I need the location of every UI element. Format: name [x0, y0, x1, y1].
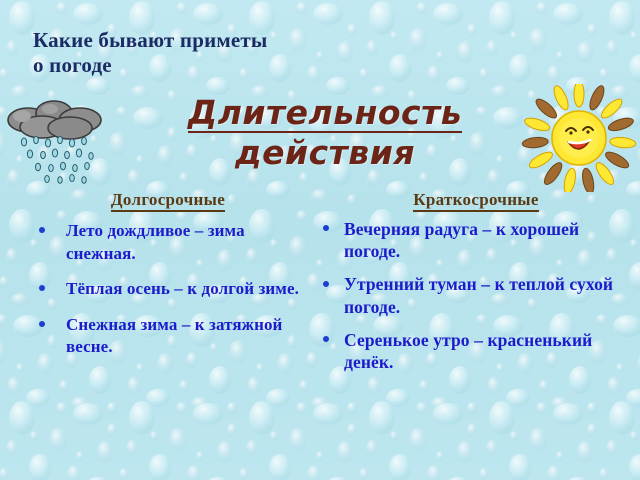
column-heading-long-term: Долгосрочные — [18, 190, 318, 212]
list-item-text: Лето дождливое – зима снежная. — [66, 220, 318, 265]
rain-cloud-icon — [2, 96, 110, 192]
list-item-text: Серенькое утро – красненький денёк. — [344, 329, 636, 373]
bullet-dot-icon — [39, 285, 45, 291]
smiling-sun-icon — [521, 84, 637, 192]
list-item: Серенькое утро – красненький денёк. — [316, 329, 636, 373]
list-item: Утренний туман – к теплой сухой погоде. — [316, 273, 636, 317]
column-long-term: Долгосрочные Лето дождливое – зима снежн… — [18, 190, 318, 372]
list-item: Снежная зима – к затяжной весне. — [18, 314, 318, 359]
column-heading-short-term-text: Краткосрочные — [413, 190, 538, 212]
column-short-term: Краткосрочные Вечерняя радуга – к хороше… — [316, 190, 636, 384]
slide-canvas: Какие бывают приметы о погоде Длительнос… — [0, 0, 640, 480]
list-item: Вечерняя радуга – к хорошей погоде. — [316, 218, 636, 262]
list-item-text: Утренний туман – к теплой сухой погоде. — [344, 273, 636, 317]
main-title-line-2: действия — [150, 136, 500, 170]
bullet-dot-icon — [323, 225, 329, 231]
list-item-text: Тёплая осень – к долгой зиме. — [66, 278, 318, 301]
bullet-dot-icon — [39, 321, 45, 327]
list-item-text: Вечерняя радуга – к хорошей погоде. — [344, 218, 636, 262]
bullet-list-short-term: Вечерняя радуга – к хорошей погоде. Утре… — [316, 218, 636, 373]
list-item-text: Снежная зима – к затяжной весне. — [66, 314, 318, 359]
bullet-dot-icon — [323, 336, 329, 342]
main-title: Длительность действия — [150, 96, 500, 169]
bullet-dot-icon — [39, 227, 45, 233]
main-title-line-1: Длительность — [188, 96, 462, 133]
page-title: Какие бывают приметы о погоде — [33, 28, 363, 78]
column-heading-short-term: Краткосрочные — [316, 190, 636, 212]
list-item: Тёплая осень – к долгой зиме. — [18, 278, 318, 301]
bullet-list-long-term: Лето дождливое – зима снежная. Тёплая ос… — [18, 220, 318, 359]
column-heading-long-term-text: Долгосрочные — [111, 190, 225, 212]
list-item: Лето дождливое – зима снежная. — [18, 220, 318, 265]
bullet-dot-icon — [323, 281, 329, 287]
